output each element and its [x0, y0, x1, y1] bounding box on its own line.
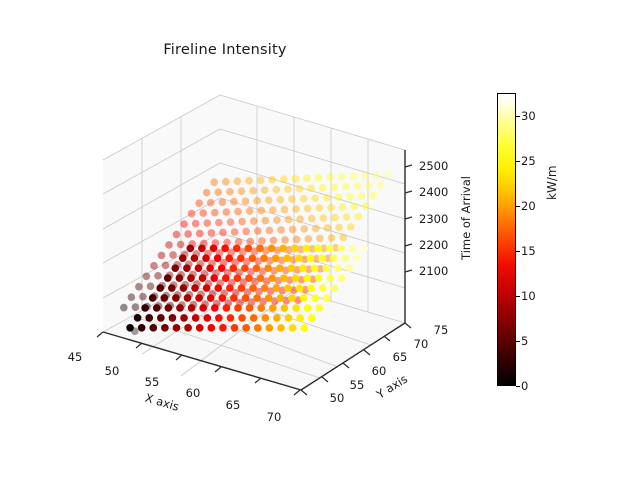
z-tick-2400: 2400	[419, 185, 448, 199]
scatter-point	[307, 284, 315, 292]
scatter-point	[334, 264, 342, 272]
scatter-point	[272, 284, 280, 292]
x-tick-70: 70	[267, 410, 282, 424]
scatter-point	[237, 254, 245, 262]
scatter-point	[241, 264, 249, 272]
scatter-point	[214, 188, 222, 196]
scatter-point	[328, 234, 336, 242]
y-tick-65: 65	[393, 350, 408, 364]
scatter-point	[245, 177, 253, 185]
scatter-point	[327, 204, 335, 212]
scatter-point	[326, 274, 334, 282]
scatter-point	[276, 264, 284, 272]
scatter-point	[191, 254, 199, 262]
scatter-point	[134, 314, 142, 322]
x-tick-45: 45	[68, 350, 83, 364]
scatter-point	[280, 175, 288, 183]
z-tick-2100: 2100	[419, 264, 448, 278]
z-tick-2200: 2200	[419, 238, 448, 252]
scatter-point	[168, 284, 176, 292]
scatter-point	[153, 304, 161, 312]
scatter-point	[180, 220, 188, 228]
scatter-point	[214, 254, 222, 262]
scatter-point	[210, 178, 218, 186]
scatter-point	[199, 274, 207, 282]
scatter-point	[195, 199, 203, 207]
scatter-point	[272, 254, 280, 262]
x-tick-65: 65	[226, 398, 241, 412]
scatter-point	[314, 245, 322, 253]
scatter-point	[268, 245, 276, 253]
scatter-point	[303, 274, 311, 282]
figure-canvas: Fireline Intensity	[0, 0, 640, 480]
colorbar-tick-label: 20	[521, 199, 536, 213]
scatter-point	[350, 203, 358, 211]
scatter-point	[339, 203, 347, 211]
scatter-point	[171, 264, 179, 272]
scatter-point	[187, 244, 195, 252]
scatter-point	[362, 202, 370, 210]
scatter-point	[223, 304, 231, 312]
scatter-point	[338, 274, 346, 282]
scatter-point	[300, 324, 308, 332]
scatter-point	[250, 314, 258, 322]
scatter-point	[120, 304, 128, 312]
colorbar-label: kW/m	[545, 165, 559, 200]
scatter-point	[300, 195, 308, 203]
scatter-point	[361, 172, 369, 180]
scatter-point	[311, 194, 319, 202]
scatter-point	[160, 294, 168, 302]
scatter-point	[199, 304, 207, 312]
z-axis-tick-labels: 2500 2400 2300 2200 2100	[419, 159, 448, 278]
scatter-point	[291, 245, 299, 253]
scatter-point	[337, 245, 345, 253]
scatter-point	[161, 324, 169, 332]
scatter-point	[300, 294, 308, 302]
scatter-point	[254, 324, 262, 332]
scatter-point	[304, 304, 312, 312]
scatter-point	[343, 213, 351, 221]
scatter-point	[265, 294, 273, 302]
axes3d-plot: 45 50 55 60 65 70 X axis 50 55 60 65 70 …	[0, 0, 640, 480]
scatter-point	[242, 197, 250, 205]
scatter-point	[284, 185, 292, 193]
scatter-point	[256, 245, 264, 253]
scatter-point	[203, 284, 211, 292]
scatter-point	[281, 236, 289, 244]
scatter-point	[143, 272, 151, 280]
scatter-point	[203, 314, 211, 322]
y-tick-60: 60	[372, 364, 387, 378]
scatter-point	[270, 237, 278, 245]
scatter-point	[257, 176, 265, 184]
scatter-point	[307, 254, 315, 262]
scatter-point	[342, 183, 350, 191]
scatter-point	[289, 324, 297, 332]
scatter-point	[315, 274, 323, 282]
scatter-point	[238, 284, 246, 292]
scatter-point	[211, 209, 219, 217]
scatter-point	[373, 171, 381, 179]
scatter-point	[234, 304, 242, 312]
scatter-point	[188, 210, 196, 218]
scatter-point	[199, 209, 207, 217]
scatter-point	[350, 172, 358, 180]
scatter-point	[207, 294, 215, 302]
scatter-point	[238, 218, 246, 226]
scatter-point	[231, 228, 239, 236]
scatter-point	[277, 196, 285, 204]
scatter-point	[196, 230, 204, 238]
scatter-point	[206, 264, 214, 272]
scatter-point	[234, 208, 242, 216]
scatter-point	[164, 274, 172, 282]
scatter-point	[203, 189, 211, 197]
scatter-point	[268, 274, 276, 282]
scatter-point	[335, 193, 343, 201]
scatter-point	[158, 252, 166, 260]
scatter-point	[219, 229, 227, 237]
scatter-point	[253, 294, 261, 302]
scatter-point	[165, 241, 173, 249]
scatter-point	[323, 194, 331, 202]
scatter-point	[384, 171, 392, 179]
scatter-point	[245, 274, 253, 282]
scatter-point	[319, 284, 327, 292]
colorbar-tick-label: 10	[521, 289, 536, 303]
scatter-point	[269, 304, 277, 312]
scatter-point	[139, 293, 147, 301]
scatter-point	[203, 219, 211, 227]
scatter-point	[347, 223, 355, 231]
scatter-point	[354, 213, 362, 221]
scatter-point	[162, 262, 170, 270]
scatter-point	[277, 226, 285, 234]
scatter-point	[323, 294, 331, 302]
scatter-point	[188, 304, 196, 312]
scatter-point	[253, 264, 261, 272]
scatter-point	[354, 182, 362, 190]
scatter-point	[221, 244, 229, 252]
scatter-point	[211, 304, 219, 312]
scatter-point	[246, 304, 254, 312]
scatter-point	[149, 324, 157, 332]
scatter-point	[307, 184, 315, 192]
scatter-point	[169, 314, 177, 322]
scatter-point	[218, 264, 226, 272]
scatter-point	[173, 231, 181, 239]
scatter-point	[266, 324, 274, 332]
scatter-point	[288, 195, 296, 203]
scatter-point	[184, 230, 192, 238]
scatter-point	[135, 283, 143, 291]
scatter-point	[147, 282, 155, 290]
scatter-point	[279, 245, 287, 253]
scatter-point	[296, 314, 304, 322]
scatter-point	[288, 264, 296, 272]
scatter-point	[242, 324, 250, 332]
scatter-point	[316, 235, 324, 243]
scatter-point	[320, 214, 328, 222]
x-axis-title: X axis	[144, 391, 181, 414]
colorbar-tickmark	[516, 206, 520, 207]
scatter-point	[176, 304, 184, 312]
scatter-point	[222, 274, 230, 282]
scatter-point	[295, 254, 303, 262]
scatter-point	[172, 294, 180, 302]
scatter-point	[215, 314, 223, 322]
scatter-point	[281, 304, 289, 312]
scatter-point	[238, 314, 246, 322]
scatter-point	[231, 324, 239, 332]
colorbar: 051015202530	[497, 93, 516, 386]
scatter-point	[242, 294, 250, 302]
scatter-point	[238, 187, 246, 195]
scatter-point	[198, 244, 206, 252]
scatter-point	[292, 304, 300, 312]
scatter-point	[234, 274, 242, 282]
scatter-point	[246, 238, 254, 246]
scatter-point	[141, 304, 149, 312]
scatter-point	[296, 185, 304, 193]
scatter-point	[128, 293, 136, 301]
scatter-point	[195, 264, 203, 272]
scatter-point	[218, 294, 226, 302]
scatter-point	[227, 218, 235, 226]
z-tick-2500: 2500	[419, 159, 448, 173]
scatter-point	[365, 182, 373, 190]
scatter-point	[353, 255, 361, 263]
scatter-point	[260, 254, 268, 262]
scatter-point	[377, 181, 385, 189]
scatter-point	[292, 205, 300, 213]
z-axis-ticks	[405, 165, 412, 272]
scatter-point	[184, 324, 192, 332]
colorbar-tickmark	[516, 386, 520, 387]
scatter-point	[154, 272, 162, 280]
scatter-point	[157, 314, 165, 322]
scatter-point	[361, 245, 369, 253]
x-tick-60: 60	[186, 386, 201, 400]
scatter-point	[258, 237, 266, 245]
scatter-point	[304, 205, 312, 213]
scatter-point	[300, 225, 308, 233]
scatter-point	[156, 284, 164, 292]
y-tick-50: 50	[330, 391, 345, 405]
scatter-point	[230, 294, 238, 302]
scatter-point	[315, 204, 323, 212]
scatter-point	[261, 284, 269, 292]
scatter-point	[277, 324, 285, 332]
scatter-point	[249, 284, 257, 292]
scatter-point	[196, 324, 204, 332]
scatter-point	[207, 199, 215, 207]
scatter-point	[169, 251, 177, 259]
colorbar-tick-label: 5	[521, 334, 528, 348]
scatter-point	[311, 294, 319, 302]
scatter-point	[283, 254, 291, 262]
colorbar-tick-label: 15	[521, 244, 536, 258]
scatter-point	[277, 294, 285, 302]
scatter-point	[292, 175, 300, 183]
scatter-point	[285, 314, 293, 322]
scatter-point	[210, 244, 218, 252]
scatter-point	[242, 228, 250, 236]
scatter-point	[223, 208, 231, 216]
scatter-point	[183, 264, 191, 272]
z-axis-title: Time of Arrival	[459, 176, 473, 261]
scatter-point	[338, 173, 346, 181]
scatter-point	[202, 254, 210, 262]
scatter-point	[293, 236, 301, 244]
scatter-point	[226, 284, 234, 292]
scatter-point	[339, 234, 347, 242]
scatter-point	[304, 235, 312, 243]
scatter-point	[234, 177, 242, 185]
scatter-point	[246, 207, 254, 215]
scatter-point	[184, 294, 192, 302]
scatter-point	[303, 245, 311, 253]
scatter-point	[322, 264, 330, 272]
colorbar-tickmark	[516, 296, 520, 297]
scatter-point	[145, 314, 153, 322]
scatter-point	[225, 254, 233, 262]
y-tick-70: 70	[414, 337, 429, 351]
scatter-point	[208, 229, 216, 237]
scatter-point	[299, 264, 307, 272]
colorbar-tickmark	[516, 341, 520, 342]
scatter-point	[222, 178, 230, 186]
scatter-point	[249, 254, 257, 262]
scatter-point	[249, 187, 257, 195]
colorbar-tickmark	[516, 161, 520, 162]
scatter-point	[210, 274, 218, 282]
scatter-point	[233, 244, 241, 252]
scatter-point	[265, 196, 273, 204]
scatter-point	[272, 186, 280, 194]
scatter-point	[289, 226, 297, 234]
scatter-point	[312, 225, 320, 233]
scatter-point	[230, 198, 238, 206]
scatter-point	[268, 176, 276, 184]
scatter-point	[349, 245, 357, 253]
scatter-point	[192, 220, 200, 228]
scatter-point	[330, 284, 338, 292]
scatter-point	[273, 314, 281, 322]
scatter-point	[284, 284, 292, 292]
scatter-point	[180, 284, 188, 292]
scatter-point	[358, 192, 366, 200]
scatter-point	[262, 217, 270, 225]
scatter-point	[315, 174, 323, 182]
scatter-point	[273, 216, 281, 224]
scatter-point	[192, 314, 200, 322]
x-tick-50: 50	[105, 364, 120, 378]
scatter-point	[303, 174, 311, 182]
colorbar-tickmark	[516, 116, 520, 117]
scatter-point	[208, 324, 216, 332]
scatter-point	[215, 219, 223, 227]
scatter-point	[331, 214, 339, 222]
scatter-point	[318, 255, 326, 263]
z-tick-2300: 2300	[419, 212, 448, 226]
scatter-point	[126, 324, 134, 332]
scatter-point	[173, 324, 181, 332]
scatter-point	[369, 192, 377, 200]
scatter-point	[311, 264, 319, 272]
scatter-point	[308, 314, 316, 322]
scatter-point	[346, 193, 354, 201]
scatter-point	[326, 245, 334, 253]
colorbar-gradient	[497, 93, 516, 386]
y-tick-55: 55	[350, 378, 365, 392]
scatter-point	[219, 324, 227, 332]
scatter-point	[281, 206, 289, 214]
scatter-point	[296, 284, 304, 292]
scatter-point	[257, 207, 265, 215]
scatter-point	[226, 188, 234, 196]
scatter-point	[341, 255, 349, 263]
scatter-point	[195, 294, 203, 302]
colorbar-tick-label: 30	[521, 109, 536, 123]
scatter-point	[346, 264, 354, 272]
scatter-point	[331, 183, 339, 191]
scatter-point	[261, 314, 269, 322]
scatter-point	[179, 254, 187, 262]
scatter-point	[191, 284, 199, 292]
scatter-point	[264, 264, 272, 272]
scatter-point	[245, 245, 253, 253]
scatter-point	[280, 274, 288, 282]
scatter-point	[229, 264, 237, 272]
colorbar-tickmark	[516, 251, 520, 252]
scatter-point	[285, 216, 293, 224]
scatter-point	[138, 324, 146, 332]
scatter-point	[330, 255, 338, 263]
scatter-point	[176, 274, 184, 282]
y-tick-75: 75	[434, 323, 449, 337]
scatter-point	[180, 314, 188, 322]
scatter-point	[149, 294, 157, 302]
scatter-point	[266, 227, 274, 235]
scatter-point	[257, 304, 265, 312]
scatter-point	[214, 284, 222, 292]
scatter-point	[219, 198, 227, 206]
scatter-point	[315, 304, 323, 312]
scatter-point	[296, 215, 304, 223]
scatter-point	[308, 215, 316, 223]
scatter-point	[335, 224, 343, 232]
scatter-point	[150, 262, 158, 270]
scatter-point	[257, 274, 265, 282]
scatter-point	[227, 314, 235, 322]
scatter-point	[187, 274, 195, 282]
scatter-point	[250, 217, 258, 225]
scatter-point	[319, 184, 327, 192]
scatter-point	[269, 206, 277, 214]
scatter-point	[165, 304, 173, 312]
scatter-point	[324, 224, 332, 232]
colorbar-tick-label: 25	[521, 154, 536, 168]
scatter-point	[326, 173, 334, 181]
scatter-point	[292, 274, 300, 282]
scatter-point	[261, 186, 269, 194]
scatter-point	[132, 303, 140, 311]
scatter-point	[288, 294, 296, 302]
scatter-point	[254, 227, 262, 235]
colorbar-tick-label: 0	[521, 379, 528, 393]
